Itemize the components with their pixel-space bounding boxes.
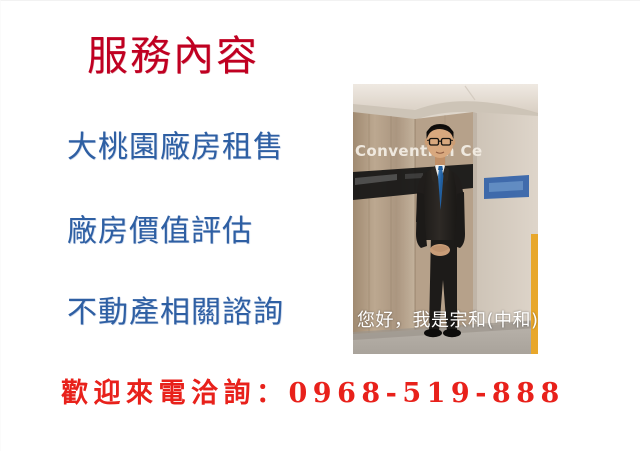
contact-phone-line: 歡迎來電洽詢：0968-519-888	[61, 371, 565, 410]
service-item-3: 不動產相關諮詢	[67, 296, 284, 329]
page-title: 服務內容	[87, 34, 259, 79]
slide-canvas: 服務內容 大桃園廠房租售 廠房價值評估 不動產相關諮詢 歡迎來電洽詢：0968-…	[0, 0, 640, 451]
service-item-2: 廠房價值評估	[67, 215, 253, 248]
photo-caption: 您好，我是宗和(中和)	[357, 306, 539, 332]
service-item-1: 大桃園廠房租售	[67, 131, 284, 164]
svg-text:Convention Ce: Convention Ce	[355, 142, 483, 160]
